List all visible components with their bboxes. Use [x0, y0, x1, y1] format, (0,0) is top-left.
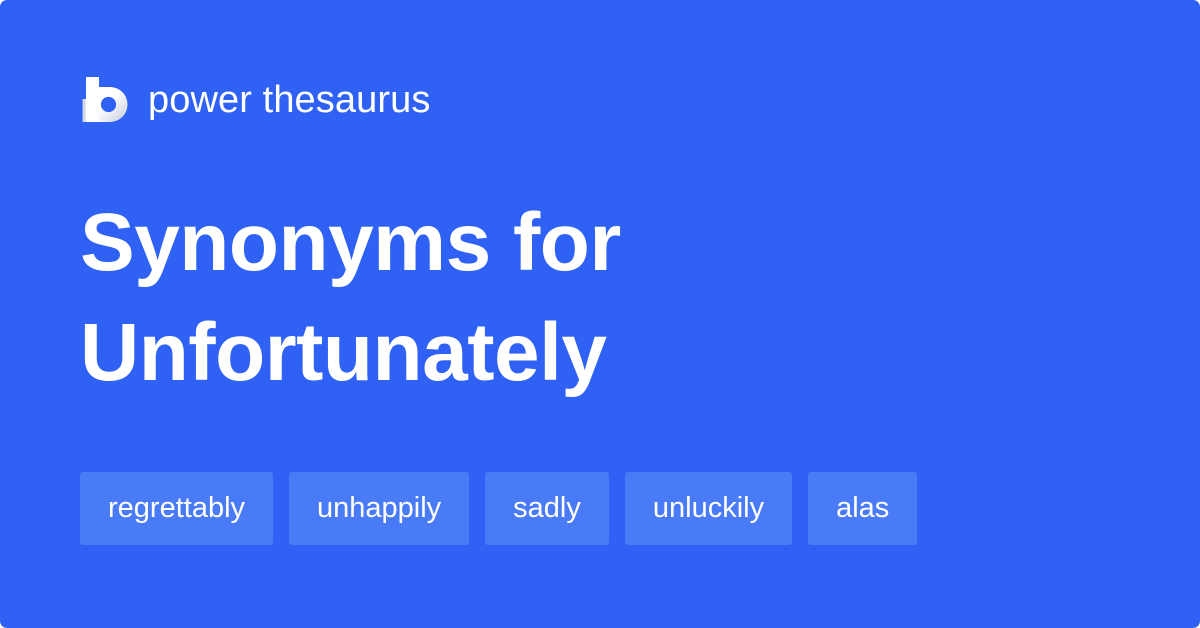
power-thesaurus-b-logo-icon — [80, 75, 128, 125]
page-title-line-2: Unfortunately — [80, 298, 940, 408]
page-title: Synonyms for Unfortunately — [80, 188, 940, 408]
social-share-card: power thesaurus Synonyms for Unfortunate… — [0, 0, 1200, 628]
synonym-chip-list: regrettably unhappily sadly unluckily al… — [80, 472, 917, 545]
synonym-chip[interactable]: sadly — [485, 472, 609, 545]
brand-name: power thesaurus — [148, 78, 430, 122]
synonym-chip[interactable]: alas — [808, 472, 917, 545]
brand-header: power thesaurus — [80, 72, 430, 128]
synonym-chip[interactable]: unhappily — [289, 472, 469, 545]
synonym-chip[interactable]: unluckily — [625, 472, 792, 545]
page-title-line-1: Synonyms for — [80, 188, 940, 298]
synonym-chip[interactable]: regrettably — [80, 472, 273, 545]
